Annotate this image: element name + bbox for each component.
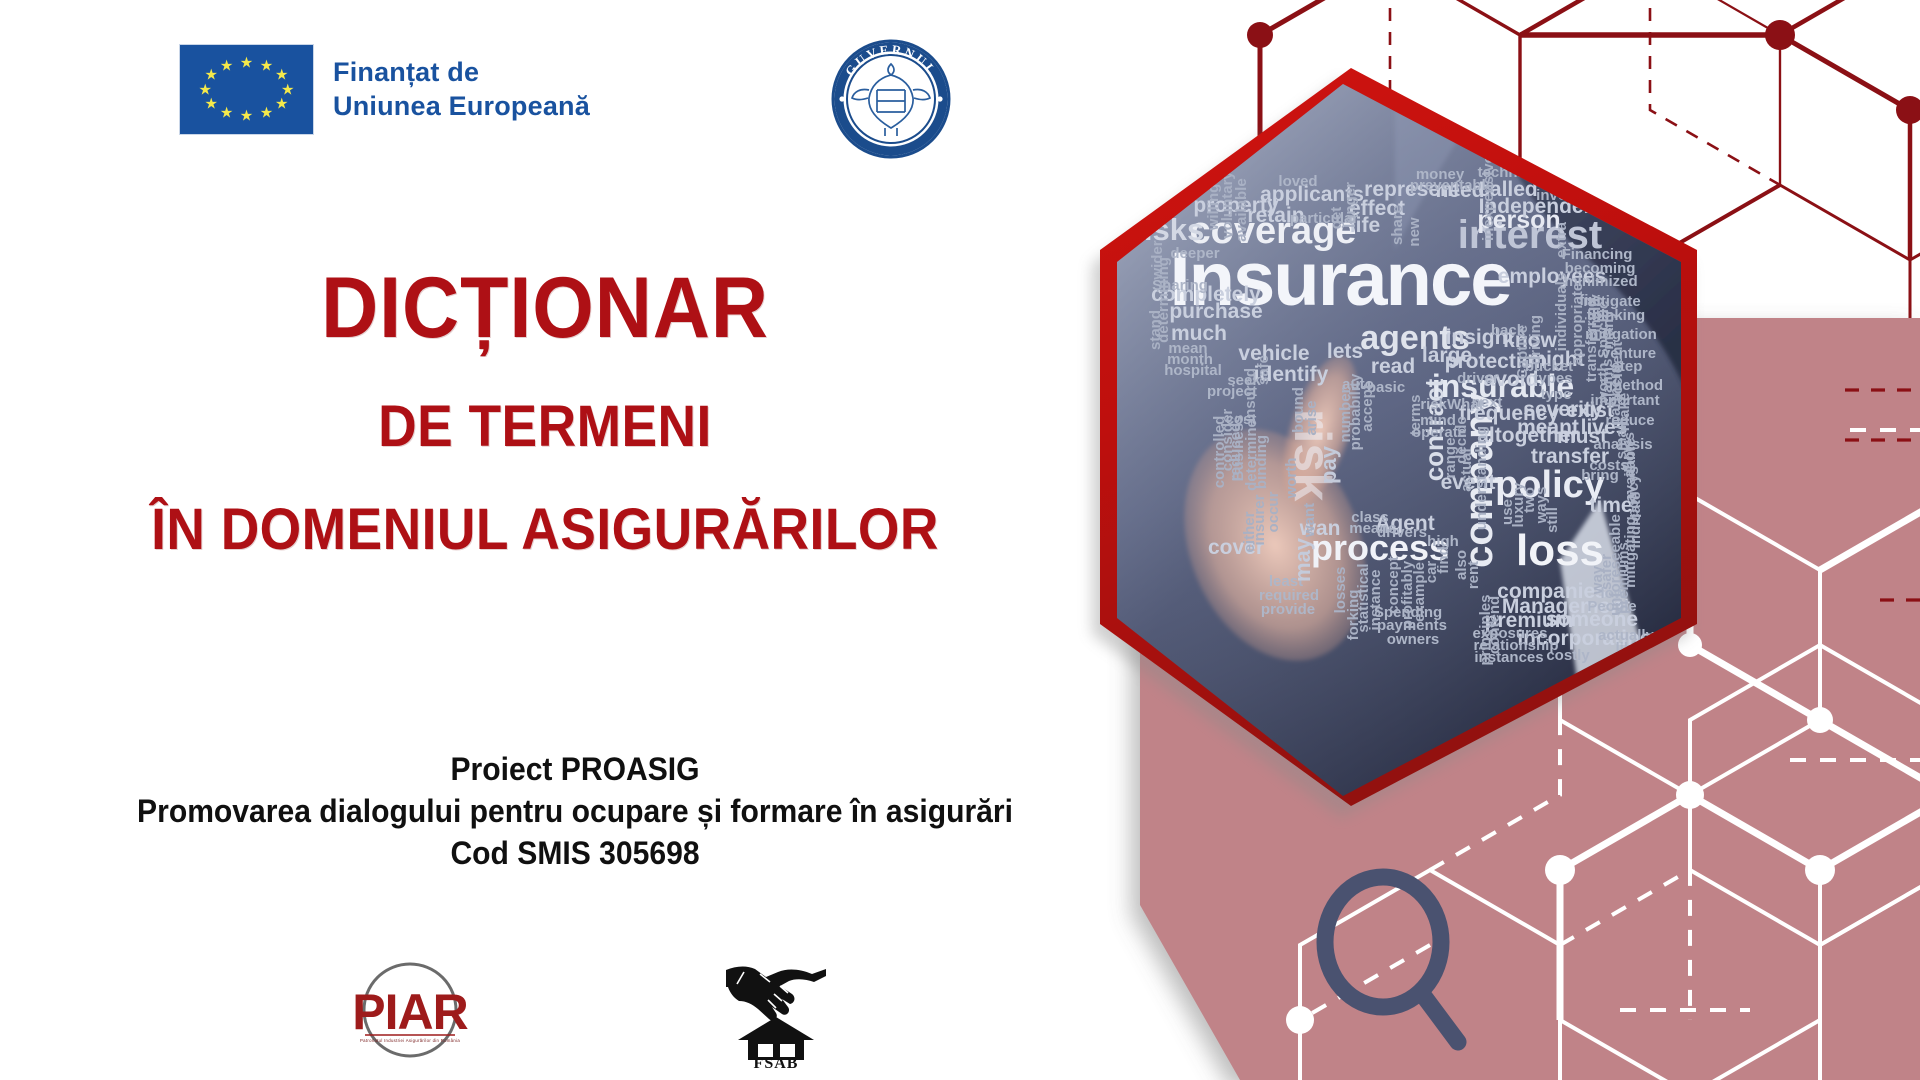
svg-text:least: least [1269,573,1303,590]
svg-text:individuals: individuals [1553,273,1570,351]
svg-text:altogether: altogether [1477,424,1579,447]
svg-text:inexpensive: inexpensive [1480,155,1497,241]
svg-text:available: available [1622,438,1639,501]
svg-text:many: many [1600,310,1617,350]
svg-text:required: required [1259,587,1319,604]
svg-text:vehicle: vehicle [1238,342,1309,365]
svg-text:car: car [1423,561,1440,584]
svg-text:payments: payments [1377,617,1447,634]
svg-text:severity: severity [1523,398,1603,421]
svg-text:types: types [1533,370,1572,387]
svg-text:applicants: applicants [1260,183,1364,206]
svg-text:willing: willing [1205,184,1222,232]
svg-text:transfer: transfer [1531,445,1609,468]
project-name: Proiect PROASIG [35,748,1116,790]
svg-text:transferring: transferring [1583,298,1600,382]
svg-text:reduced: reduced [1227,423,1244,481]
magnifying-glass-icon [1325,877,1458,1042]
svg-text:purchase: purchase [1169,300,1262,323]
svg-text:company: company [1457,391,1501,567]
svg-text:called: called [1478,178,1538,201]
svg-text:mitigate: mitigate [1583,293,1641,310]
svg-text:premium: premium [1485,609,1574,632]
svg-text:completely: completely [1151,283,1261,306]
svg-text:technique: technique [1478,164,1549,181]
svg-text:understanding: understanding [1473,426,1490,530]
svg-text:rent: rent [1465,561,1482,589]
svg-text:auto: auto [1342,376,1374,393]
eu-funding-logo: ★ ★ ★ ★ ★ ★ ★ ★ ★ ★ ★ ★ Finanțat de Uniu… [180,45,590,134]
svg-text:bound: bound [1290,387,1307,433]
svg-text:Independent: Independent [1479,195,1604,218]
svg-text:someone: someone [1546,608,1638,631]
svg-text:still: still [1544,507,1561,533]
svg-text:lets: lets [1327,340,1363,363]
svg-text:Management: Management [1502,595,1630,618]
svg-text:deeper: deeper [1170,245,1219,262]
svg-text:person: person [1477,206,1560,234]
svg-text:like: like [1615,640,1640,657]
svg-text:use: use [1499,499,1516,525]
svg-text:exposures: exposures [1472,625,1547,642]
svg-text:profitably: profitably [1399,560,1416,629]
svg-text:provide: provide [1261,601,1315,618]
svg-text:employees: employees [1498,265,1607,288]
piar-logo-text: PIAR [352,984,468,1040]
hexagon-network-pattern [1247,0,1920,560]
svg-text:particular: particular [1290,210,1359,227]
svg-text:effect: effect [1349,197,1405,220]
svg-text:minimized: minimized [1564,273,1637,290]
svg-text:mind: mind [1420,412,1456,429]
svg-text:need: need [1435,179,1484,202]
eu-funding-line1: Finanțat de [333,56,590,89]
svg-text:appropriate: appropriate [1569,283,1586,366]
svg-text:preventable: preventable [1410,177,1494,194]
svg-text:reduce: reduce [1605,412,1654,429]
svg-text:cover: cover [1208,536,1264,559]
svg-text:wider: wider [1149,240,1166,280]
svg-text:pay: pay [1316,445,1341,484]
svg-text:may: may [1290,537,1315,582]
piar-logo-tagline: Patronatul Industriei Asigurărilor din R… [360,1038,460,1043]
svg-text:contract: contract [1419,378,1449,481]
svg-text:might: might [1527,348,1584,371]
svg-text:policys: policys [1625,466,1642,518]
svg-text:bucket: bucket [1525,358,1573,375]
svg-text:stand: stand [1147,310,1164,350]
svg-text:protection: protection [1445,350,1548,373]
svg-text:must: must [1557,425,1607,448]
svg-text:step: step [1612,358,1643,375]
svg-text:premiums: premiums [1615,542,1632,614]
svg-text:either: either [1241,511,1258,552]
svg-text:controlled: controlled [1211,416,1228,489]
svg-text:risk: risk [1283,409,1341,502]
svg-text:want: want [1301,503,1318,538]
svg-text:mitigating: mitigating [1622,516,1639,588]
page-title: DICȚIONAR [44,265,1047,353]
project-smis-code: Cod SMIS 305698 [35,832,1116,874]
svg-text:decide: decide [1453,416,1470,464]
svg-text:two: two [1521,487,1538,513]
svg-text:read: read [1371,355,1415,378]
svg-text:Finally: Finally [1587,294,1604,342]
svg-text:Spending: Spending [1374,604,1442,621]
svg-text:worth Specific: worth Specific [1595,301,1612,405]
svg-text:mitigation: mitigation [1585,326,1657,343]
svg-text:agents: agents [1360,319,1470,357]
svg-text:analysis: analysis [1593,436,1652,453]
svg-text:involve: involve [1536,187,1588,204]
svg-text:owners: owners [1387,631,1440,648]
svg-text:thinking: thinking [1587,307,1645,324]
eu-flag-icon: ★ ★ ★ ★ ★ ★ ★ ★ ★ ★ ★ ★ [180,45,313,134]
svg-text:seek: seek [1227,372,1261,389]
svg-text:actual: actual [1458,448,1475,491]
svg-text:luxury: luxury [1510,482,1527,528]
svg-text:People: People [1587,598,1636,615]
svg-text:ways: ways [1533,487,1550,525]
svg-text:insured: insured [1242,368,1259,422]
svg-text:Sharing: Sharing [1152,277,1208,294]
svg-text:get: get [1328,207,1345,230]
svg-text:principles: principles [1477,595,1494,666]
svg-text:accident: accident [1609,342,1626,403]
svg-text:driver: driver [1457,370,1499,387]
svg-text:longer: longer [1342,182,1359,228]
svg-text:riskWhat: riskWhat [1420,396,1483,413]
piar-logo: PIAR Patronatul Industriei Asigurărilor … [345,955,475,1065]
svg-text:class: class [1351,509,1389,526]
svg-text:process: process [1311,527,1449,568]
svg-text:make: make [1616,393,1633,431]
svg-text:risks: risks [1132,212,1204,247]
svg-text:actually: actually [1598,627,1655,644]
svg-text:meant: meant [1517,416,1579,439]
svg-text:life: life [1350,214,1380,237]
svg-text:becoming: becoming [1565,260,1636,277]
svg-text:coverage: coverage [1190,210,1357,252]
svg-text:project: project [1207,383,1257,400]
svg-text:partners: partners [1607,365,1624,425]
page-subtitle-2: ÎN DOMENIUL ASIGURĂRILOR [44,500,1047,561]
svg-text:instance: instance [1367,570,1384,631]
svg-text:worth: worth [1283,458,1300,500]
svg-text:hospital: hospital [1164,362,1222,379]
svg-text:large: large [1422,344,1472,367]
svg-text:interest: interest [1458,213,1603,257]
svg-text:know: know [1503,329,1557,352]
svg-text:retain: retain [1247,204,1304,227]
svg-text:high: high [1427,533,1459,550]
svg-text:wan: wan [1299,517,1341,540]
svg-text:losses: losses [1332,567,1349,614]
svg-text:determining: determining [1155,257,1172,343]
svg-text:low: low [1601,585,1626,602]
header-logos: ★ ★ ★ ★ ★ ★ ★ ★ ★ ★ ★ ★ Finanțat de Uniu… [0,0,1100,180]
svg-text:Captive: Captive [1514,325,1531,379]
svg-text:example: example [1411,562,1428,622]
svg-text:instances: instances [1474,649,1543,666]
svg-text:venture: venture [1602,345,1656,362]
svg-text:arise: arise [1303,400,1320,435]
svg-text:forking: forking [1345,590,1362,641]
svg-text:Agent: Agent [1375,512,1435,535]
svg-text:money: money [1416,166,1465,183]
svg-text:loss: loss [1516,526,1604,575]
svg-text:bring: bring [1581,467,1619,484]
svg-text:small: small [1613,421,1630,459]
svg-text:event: event [1441,471,1496,494]
svg-text:also: also [1453,550,1470,580]
svg-text:driving: driving [1527,315,1544,365]
svg-text:find: find [1435,546,1452,574]
svg-text:identify: identify [1254,363,1329,386]
svg-text:cost: cost [1226,411,1257,428]
svg-text:drivers: drivers [1377,524,1427,541]
svg-text:unforeseeable: unforeseeable [1607,514,1624,616]
project-description: Promovarea dialogului pentru ocupare și … [35,790,1116,832]
svg-text:statistical: statistical [1355,563,1372,632]
svg-text:basic: basic [1367,379,1405,396]
svg-text:relationship: relationship [1473,637,1558,654]
svg-text:accept: accept [1359,384,1376,432]
page-subtitle-1: DE TERMENI [44,397,1047,458]
svg-text:lives: lives [1581,416,1628,439]
svg-text:determine: determine [1243,419,1260,491]
svg-text:voluntary: voluntary [1219,171,1236,239]
svg-text:month: month [1167,351,1213,368]
svg-text:costly: costly [1546,647,1590,664]
svg-text:new: new [1406,217,1423,247]
svg-text:important: important [1590,392,1659,409]
svg-text:insight: insight [1446,326,1515,349]
svg-text:method: method [1609,377,1663,394]
svg-text:Financing: Financing [1562,246,1633,263]
svg-text:Insurance: Insurance [1169,237,1510,322]
svg-text:next: next [1472,394,1503,411]
svg-text:probability: probability [1347,373,1364,450]
svg-text:terms: terms [1407,395,1424,436]
svg-text:mean: mean [1168,340,1207,357]
romanian-government-seal-icon: GUVERNUL ROMÂNIEI [830,38,952,160]
svg-text:Business: Business [1230,415,1247,482]
rose-hexagon-panel [1140,318,1920,1080]
eu-funding-text: Finanțat de Uniunea Europeană [333,56,590,123]
svg-text:claims: claims [1599,359,1616,406]
svg-text:much: much [1171,322,1227,345]
svg-text:represent: represent [1364,178,1460,201]
project-info: Proiect PROASIG Promovarea dialogului pe… [35,748,1116,875]
svg-text:exist: exist [1566,399,1614,422]
svg-text:binding: binding [1253,435,1270,489]
svg-text:safer: safer [1598,554,1615,590]
svg-text:way: way [1589,565,1606,595]
svg-text:costs: costs [1589,457,1628,474]
svg-text:available: available [1233,178,1250,241]
svg-text:means: means [1349,520,1397,537]
svg-text:contend: contend [1486,596,1503,654]
insurance-word-cloud-hexagon: Insurance coverage interest agents polic… [1092,60,1720,820]
fsab-logo-text: FSAB [754,1055,799,1070]
svg-text:companies: companies [1497,580,1607,603]
svg-text:operate: operate [1412,424,1466,441]
svg-text:insurable: insurable [1432,368,1574,404]
svg-text:indicate: indicate [1627,492,1644,549]
svg-text:safe: safe [1255,355,1272,385]
svg-text:extra: extra [1553,221,1570,258]
svg-text:insurer: insurer [1251,494,1268,545]
svg-text:property: property [1193,194,1279,217]
svg-text:number: number [1337,387,1354,442]
svg-text:occur: occur [1265,491,1282,532]
svg-text:fix: fix [1579,292,1597,309]
fsab-logo: FSAB [722,960,830,1070]
svg-text:allows: allows [1621,432,1638,478]
cover-titles: DICȚIONAR DE TERMENI ÎN DOMENIUL ASIGURĂ… [0,265,1090,561]
svg-text:back: back [1491,322,1526,339]
svg-text:frequency: frequency [1459,402,1560,425]
svg-text:concept: concept [1385,556,1402,614]
svg-text:policy: policy [1495,464,1605,506]
svg-text:loved: loved [1278,173,1317,190]
eu-funding-line2: Uniunea Europeană [333,90,590,123]
svg-text:avoid: avoid [1484,368,1539,391]
svg-text:incorporating: incorporating [1517,627,1652,650]
svg-text:share: share [1389,205,1406,245]
svg-text:range: range [1442,438,1459,479]
cover-page: Insurance coverage interest agents polic… [0,0,1920,1080]
svg-text:type: type [1541,386,1572,403]
svg-text:time: time [1589,494,1632,517]
svg-text:consider: consider [1219,409,1236,472]
